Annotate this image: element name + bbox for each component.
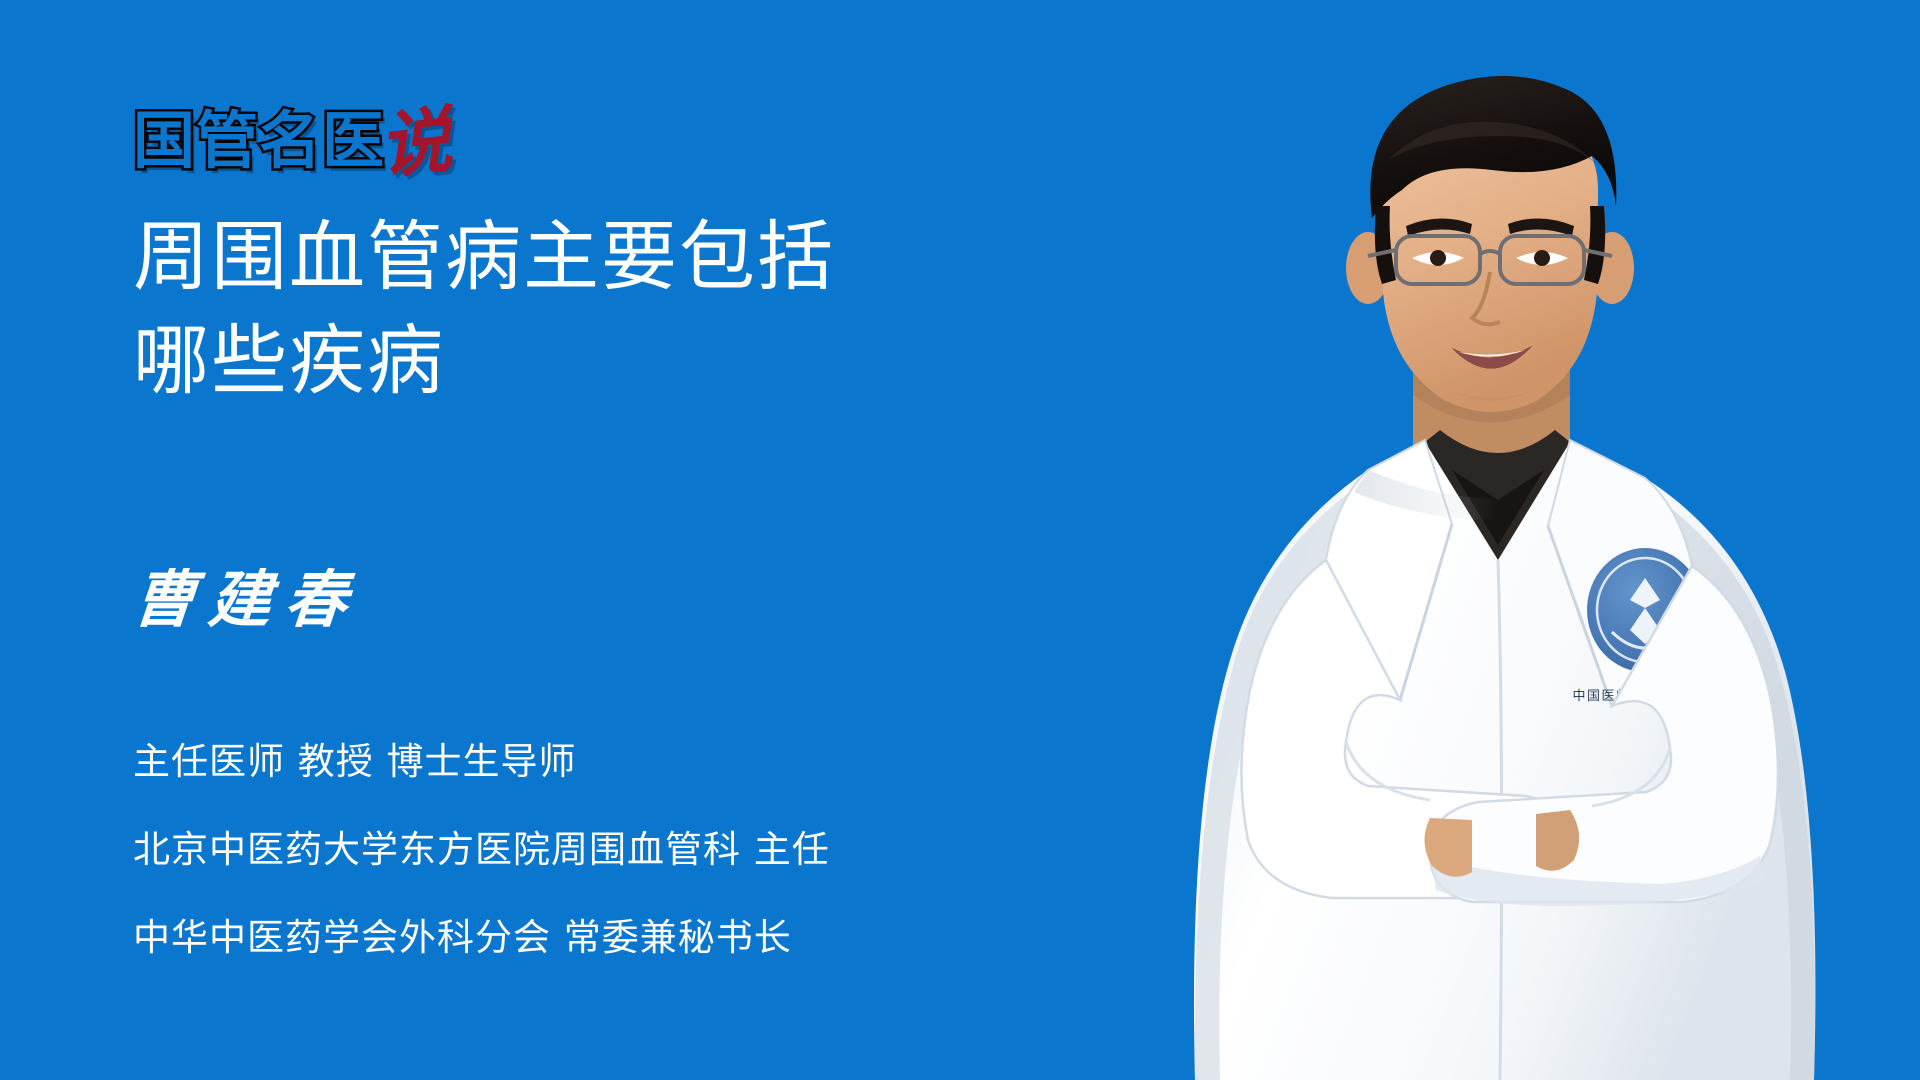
- brand-logo-accent-text: 说: [376, 108, 454, 177]
- credential-line-3: 中华中医药学会外科分会 常委兼秘书长: [133, 894, 1133, 982]
- brand-logo: 国管名医 说: [133, 98, 451, 172]
- title-line-1: 周围血管病主要包括: [133, 205, 1083, 309]
- brand-logo-main-text: 国管名医: [133, 110, 385, 172]
- title-line-2: 哪些疾病: [133, 309, 1083, 413]
- credential-line-1: 主任医师 教授 博士生导师: [133, 718, 1133, 806]
- pupil-right: [1534, 250, 1550, 266]
- video-thumbnail: 国管名医 说 周围血管病主要包括 哪些疾病 曹建春 主任医师 教授 博士生导师 …: [0, 0, 1920, 1080]
- pupil-left: [1430, 250, 1446, 266]
- doctor-credentials: 主任医师 教授 博士生导师 北京中医药大学东方医院周围血管科 主任 中华中医药学…: [133, 718, 1133, 982]
- doctor-name: 曹建春: [130, 565, 364, 635]
- page-title: 周围血管病主要包括 哪些疾病: [133, 205, 1083, 413]
- credential-line-2: 北京中医药大学东方医院周围血管科 主任: [133, 806, 1133, 894]
- portrait-illustration: 中国医师信息查询平台: [1100, 0, 1920, 1080]
- doctor-portrait: 中国医师信息查询平台: [1100, 0, 1920, 1080]
